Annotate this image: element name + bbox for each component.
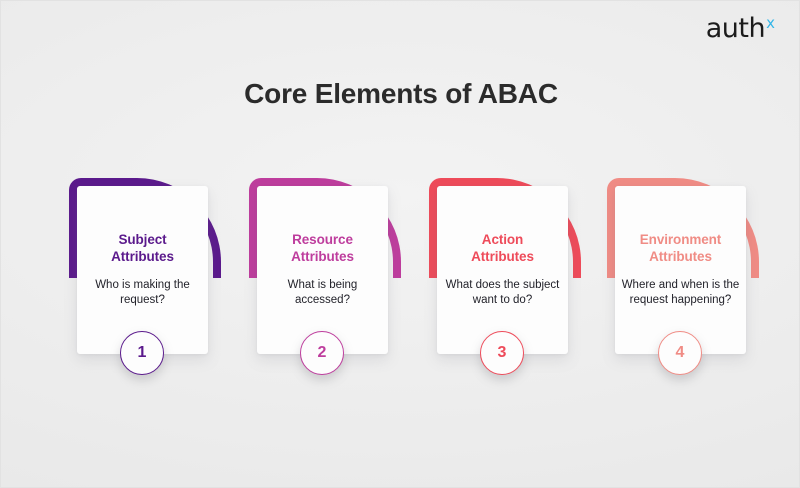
card-heading-line2-1: Attributes xyxy=(83,249,202,266)
card-body-4: Where and when is the request happening? xyxy=(621,278,740,308)
card-heading-1: Subject Attributes xyxy=(83,232,202,266)
authx-logo: auth x xyxy=(706,15,775,42)
card-number-badge-4: 4 xyxy=(658,331,702,375)
card-heading-2: Resource Attributes xyxy=(263,232,382,266)
element-card-resource: Resource Attributes What is being access… xyxy=(243,171,403,401)
card-heading-line1-4: Environment xyxy=(621,232,740,249)
card-number-badge-2: 2 xyxy=(300,331,344,375)
element-card-subject: Subject Attributes Who is making the req… xyxy=(63,171,223,401)
card-heading-line1-1: Subject xyxy=(83,232,202,249)
slide-canvas: auth x Core Elements of ABAC Subject Att… xyxy=(0,0,800,488)
core-elements-card-row: Subject Attributes Who is making the req… xyxy=(1,171,800,401)
card-heading-line2-4: Attributes xyxy=(621,249,740,266)
card-number-badge-3: 3 xyxy=(480,331,524,375)
card-number-badge-1: 1 xyxy=(120,331,164,375)
card-panel-1: Subject Attributes Who is making the req… xyxy=(77,186,208,354)
page-title: Core Elements of ABAC xyxy=(1,78,800,110)
card-heading-line2-2: Attributes xyxy=(263,249,382,266)
card-body-1: Who is making the request? xyxy=(83,278,202,308)
card-panel-4: Environment Attributes Where and when is… xyxy=(615,186,746,354)
element-card-environment: Environment Attributes Where and when is… xyxy=(601,171,761,401)
element-card-action: Action Attributes What does the subject … xyxy=(423,171,583,401)
card-heading-line1-3: Action xyxy=(443,232,562,249)
logo-wordmark: auth xyxy=(706,15,765,42)
card-panel-3: Action Attributes What does the subject … xyxy=(437,186,568,354)
card-heading-3: Action Attributes xyxy=(443,232,562,266)
card-heading-4: Environment Attributes xyxy=(621,232,740,266)
card-body-2: What is being accessed? xyxy=(263,278,382,308)
card-heading-line1-2: Resource xyxy=(263,232,382,249)
card-body-3: What does the subject want to do? xyxy=(443,278,562,308)
logo-superscript-x: x xyxy=(766,16,775,31)
card-heading-line2-3: Attributes xyxy=(443,249,562,266)
card-panel-2: Resource Attributes What is being access… xyxy=(257,186,388,354)
